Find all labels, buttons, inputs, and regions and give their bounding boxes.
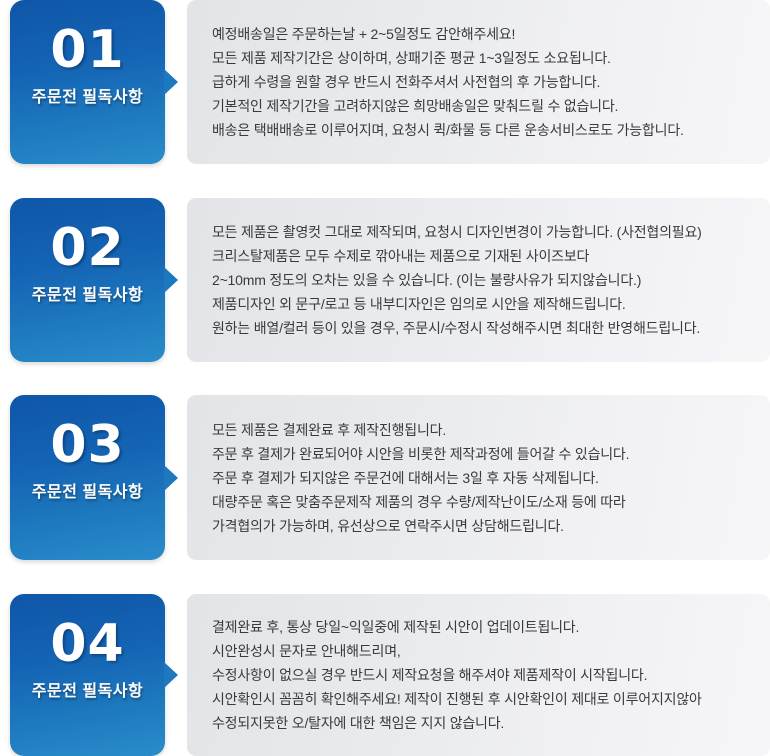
notice-badge-04: 04 주문전 필독사항 bbox=[10, 594, 165, 756]
badge-arrow-icon bbox=[164, 465, 178, 491]
notice-text-block: 결제완료 후, 통상 당일~익일중에 제작된 시안이 업데이트됩니다. 시안완성… bbox=[212, 615, 752, 735]
notice-number: 04 bbox=[10, 618, 165, 670]
notice-row: 04 주문전 필독사항 결제완료 후, 통상 당일~익일중에 제작된 시안이 업… bbox=[0, 594, 770, 756]
notice-line: 수정사항이 없으실 경우 반드시 제작요청을 해주셔야 제품제작이 시작됩니다. bbox=[212, 663, 752, 687]
notice-badge-03: 03 주문전 필독사항 bbox=[10, 395, 165, 560]
notice-badge-02: 02 주문전 필독사항 bbox=[10, 198, 165, 362]
notice-number: 01 bbox=[10, 24, 165, 76]
notice-line: 주문 후 결제가 되지않은 주문건에 대해서는 3일 후 자동 삭제됩니다. bbox=[212, 466, 752, 490]
notice-row: 01 주문전 필독사항 예정배송일은 주문하는날 + 2~5일정도 감안해주세요… bbox=[0, 0, 770, 164]
notice-panel-02: 모든 제품은 촬영컷 그대로 제작되며, 요청시 디자인변경이 가능합니다. (… bbox=[187, 198, 770, 362]
notice-caption: 주문전 필독사항 bbox=[10, 286, 165, 305]
notice-panel-04: 결제완료 후, 통상 당일~익일중에 제작된 시안이 업데이트됩니다. 시안완성… bbox=[187, 594, 770, 756]
notice-line: 배송은 택배배송로 이루어지며, 요청시 퀵/화물 등 다른 운송서비스로도 가… bbox=[212, 118, 752, 142]
notice-text-block: 모든 제품은 촬영컷 그대로 제작되며, 요청시 디자인변경이 가능합니다. (… bbox=[212, 220, 752, 340]
notice-line: 주문 후 결제가 완료되어야 시안을 비롯한 제작과정에 들어갈 수 있습니다. bbox=[212, 442, 752, 466]
badge-arrow-icon bbox=[164, 267, 178, 293]
notice-line: 가격협의가 가능하며, 유선상으로 연락주시면 상담해드립니다. bbox=[212, 514, 752, 538]
notice-caption: 주문전 필독사항 bbox=[10, 483, 165, 502]
notice-panel-01: 예정배송일은 주문하는날 + 2~5일정도 감안해주세요! 모든 제품 제작기간… bbox=[187, 0, 770, 164]
notice-line: 제품디자인 외 문구/로고 등 내부디자인은 임의로 시안을 제작해드립니다. bbox=[212, 292, 752, 316]
notice-row: 03 주문전 필독사항 모든 제품은 결제완료 후 제작진행됩니다. 주문 후 … bbox=[0, 395, 770, 560]
notice-number: 03 bbox=[10, 419, 165, 471]
notice-board: 01 주문전 필독사항 예정배송일은 주문하는날 + 2~5일정도 감안해주세요… bbox=[0, 0, 770, 756]
notice-line: 대량주문 혹은 맞춤주문제작 제품의 경우 수량/제작난이도/소재 등에 따라 bbox=[212, 490, 752, 514]
notice-line: 결제완료 후, 통상 당일~익일중에 제작된 시안이 업데이트됩니다. bbox=[212, 615, 752, 639]
notice-line: 시안완성시 문자로 안내해드리며, bbox=[212, 639, 752, 663]
notice-number: 02 bbox=[10, 222, 165, 274]
notice-text-block: 예정배송일은 주문하는날 + 2~5일정도 감안해주세요! 모든 제품 제작기간… bbox=[212, 22, 752, 142]
notice-caption: 주문전 필독사항 bbox=[10, 88, 165, 107]
notice-line: 기본적인 제작기간을 고려하지않은 희망배송일은 맞춰드릴 수 없습니다. bbox=[212, 94, 752, 118]
notice-line: 수정되지못한 오/탈자에 대한 책임은 지지 않습니다. bbox=[212, 711, 752, 735]
notice-text-block: 모든 제품은 결제완료 후 제작진행됩니다. 주문 후 결제가 완료되어야 시안… bbox=[212, 418, 752, 538]
notice-line: 모든 제품은 결제완료 후 제작진행됩니다. bbox=[212, 418, 752, 442]
notice-line: 시안확인시 꼼꼼히 확인해주세요! 제작이 진행된 후 시안확인이 제대로 이루… bbox=[212, 687, 752, 711]
badge-arrow-icon bbox=[164, 69, 178, 95]
notice-line: 원하는 배열/컬러 등이 있을 경우, 주문시/수정시 작성해주시면 최대한 반… bbox=[212, 316, 752, 340]
notice-panel-03: 모든 제품은 결제완료 후 제작진행됩니다. 주문 후 결제가 완료되어야 시안… bbox=[187, 395, 770, 560]
notice-caption: 주문전 필독사항 bbox=[10, 682, 165, 701]
notice-line: 급하게 수령을 원할 경우 반드시 전화주셔서 사전협의 후 가능합니다. bbox=[212, 70, 752, 94]
notice-line: 예정배송일은 주문하는날 + 2~5일정도 감안해주세요! bbox=[212, 22, 752, 46]
notice-line: 모든 제품 제작기간은 상이하며, 상패기준 평균 1~3일정도 소요됩니다. bbox=[212, 46, 752, 70]
notice-badge-01: 01 주문전 필독사항 bbox=[10, 0, 165, 164]
notice-line: 2~10mm 정도의 오차는 있을 수 있습니다. (이는 불량사유가 되지않습… bbox=[212, 268, 752, 292]
notice-line: 크리스탈제품은 모두 수제로 깎아내는 제품으로 기재된 사이즈보다 bbox=[212, 244, 752, 268]
notice-row: 02 주문전 필독사항 모든 제품은 촬영컷 그대로 제작되며, 요청시 디자인… bbox=[0, 198, 770, 362]
notice-line: 모든 제품은 촬영컷 그대로 제작되며, 요청시 디자인변경이 가능합니다. (… bbox=[212, 220, 752, 244]
badge-arrow-icon bbox=[164, 662, 178, 688]
